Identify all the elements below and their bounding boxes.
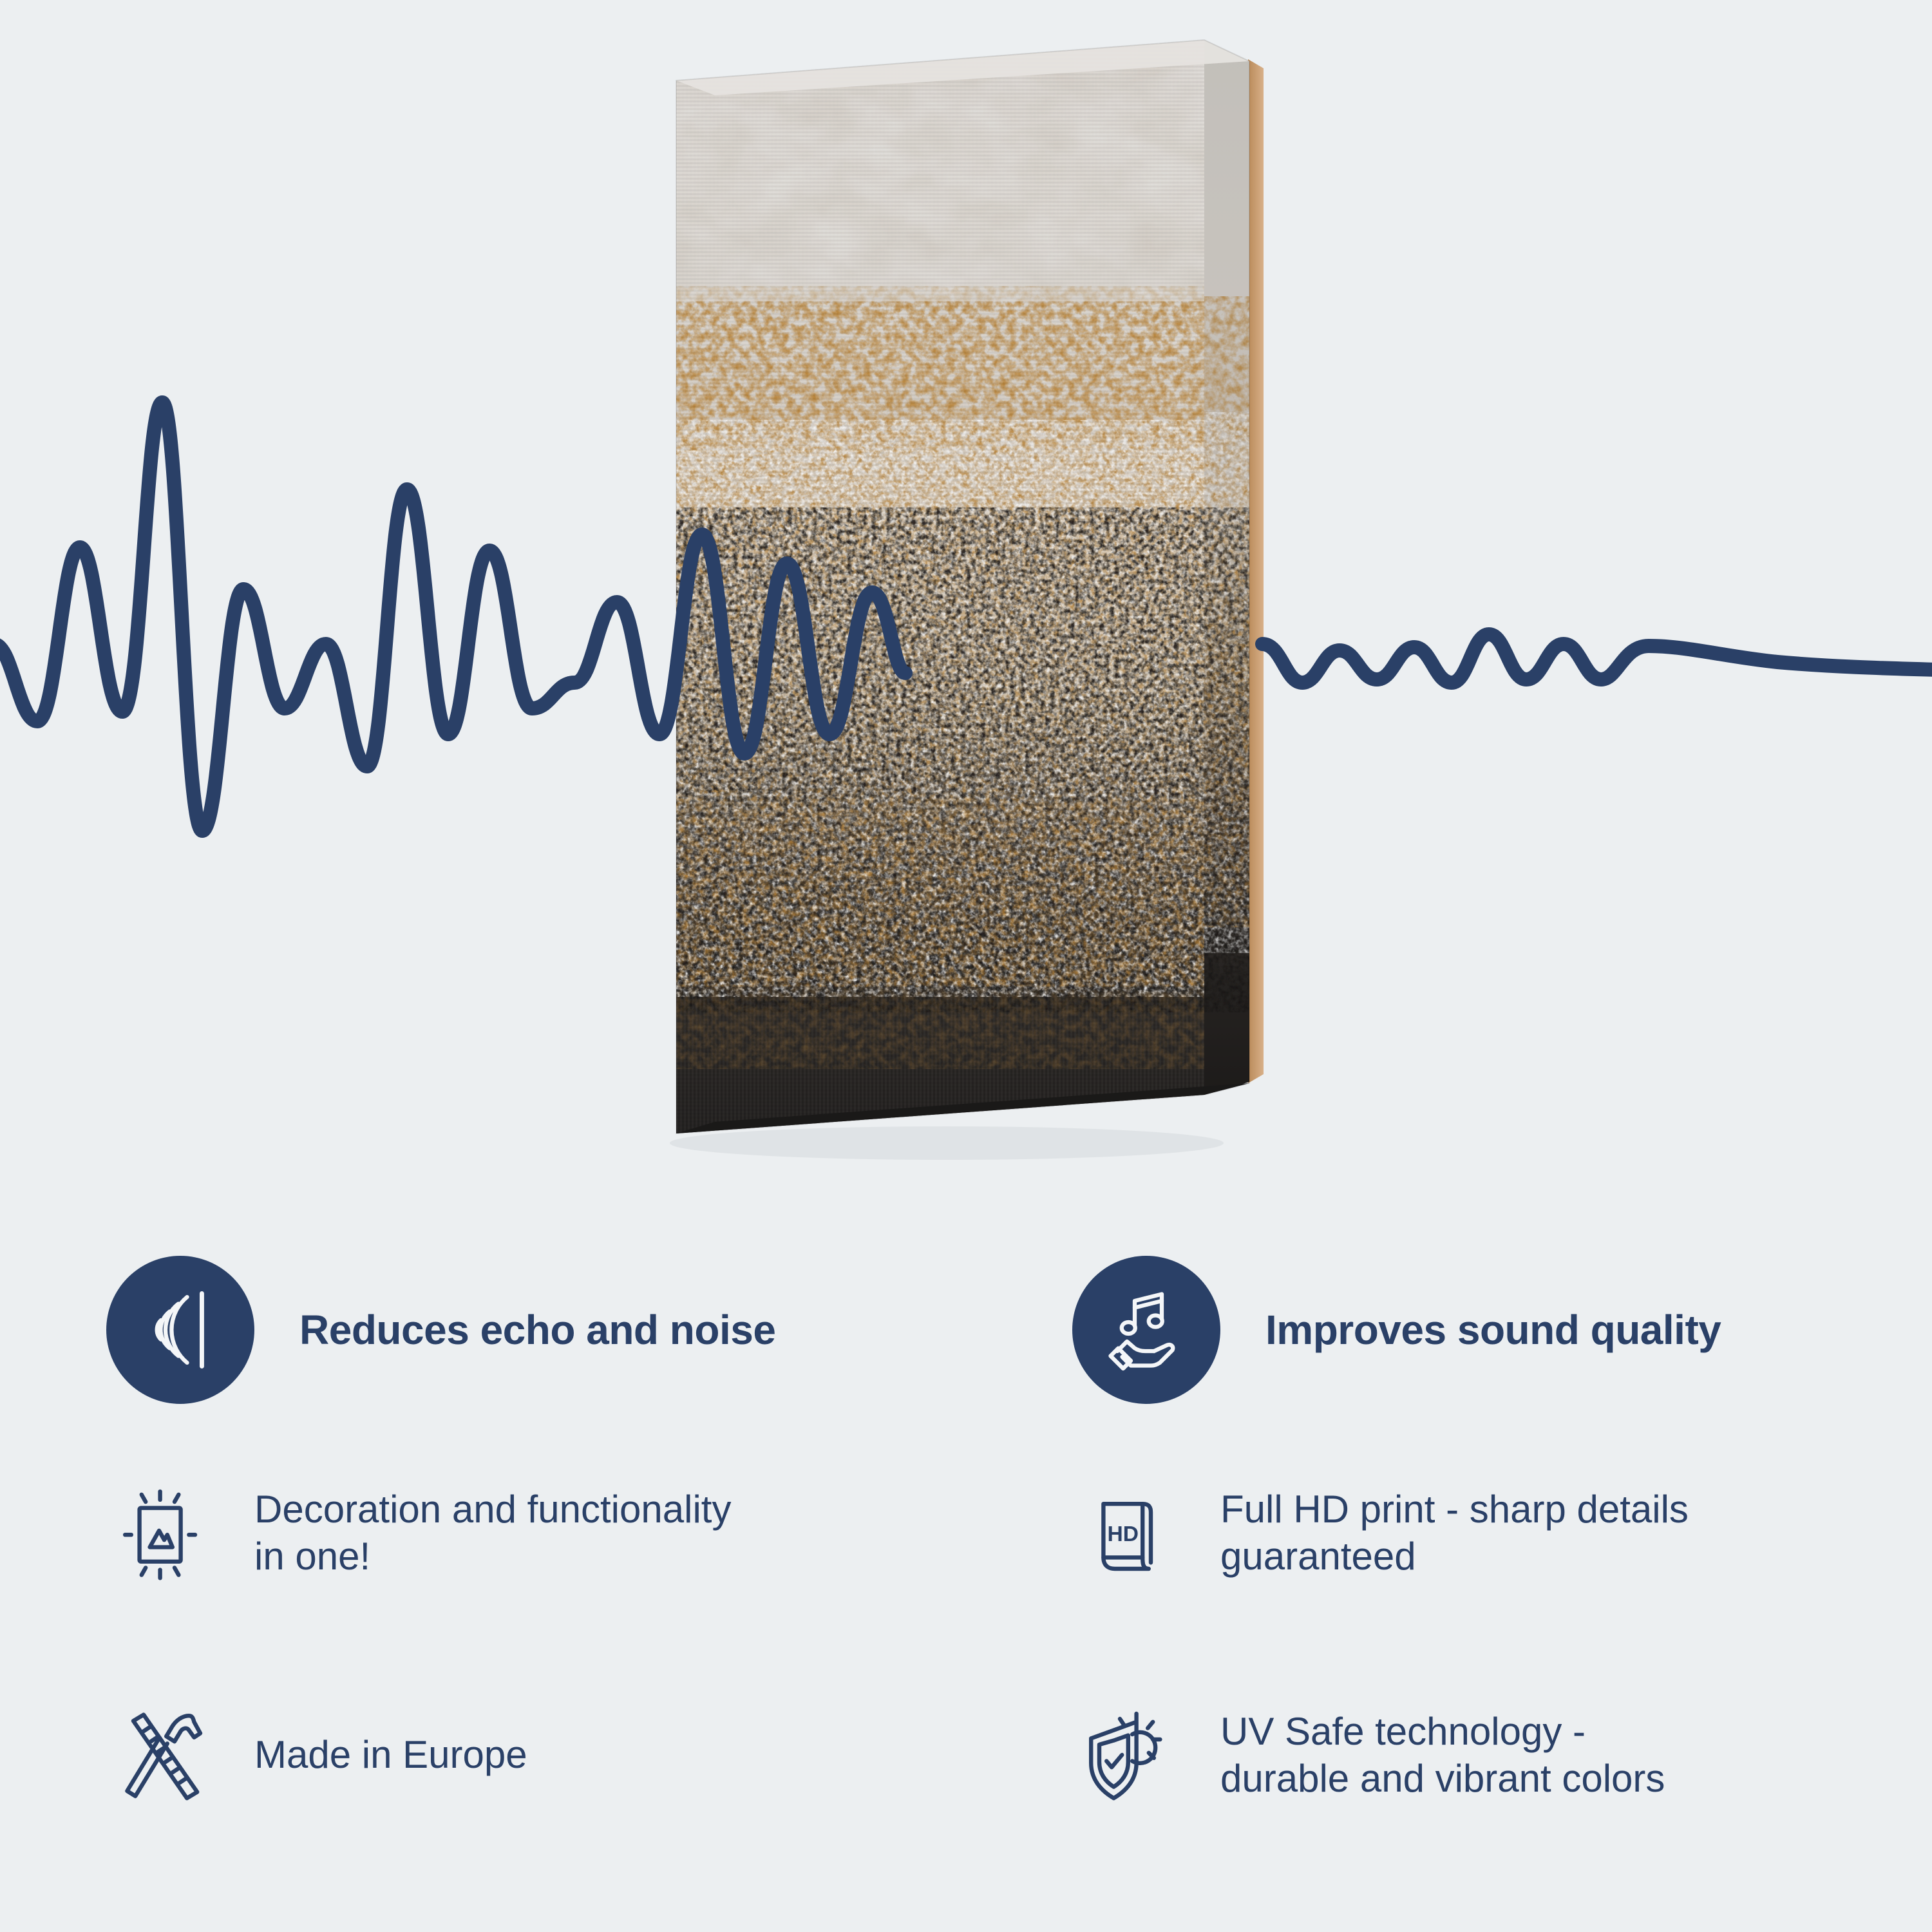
feature-row-line1: Full HD print - sharp details: [1220, 1486, 1689, 1533]
feature-row-line1: Decoration and functionality: [254, 1486, 731, 1533]
feature-badge-reduces-echo[interactable]: Reduces echo and noise: [106, 1256, 775, 1404]
uv-shield-sun-icon-wrap: [1072, 1697, 1188, 1813]
feature-row-line1: UV Safe technology -: [1220, 1708, 1665, 1755]
feature-row-label: Made in Europe: [254, 1731, 527, 1778]
feature-badge-label: Reduces echo and noise: [299, 1307, 775, 1352]
feature-row-line1: Made in Europe: [254, 1731, 527, 1778]
feature-row-line2: in one!: [254, 1533, 731, 1580]
sound-waves-wall-icon: [132, 1282, 229, 1378]
infographic-root: Reduces echo and noise: [0, 0, 1932, 1932]
wall-bar: [200, 1291, 204, 1368]
feature-list: Reduces echo and noise: [0, 1243, 1932, 1932]
waveform-right-segment: [1262, 634, 1932, 683]
feature-row-label: UV Safe technology - durable and vibrant…: [1220, 1708, 1665, 1802]
feature-badge-improves-sound[interactable]: Improves sound quality: [1072, 1256, 1721, 1404]
hero-area: [0, 0, 1932, 1243]
feature-row-made-in-europe[interactable]: Made in Europe: [106, 1687, 527, 1823]
music-note-hand-badge: [1072, 1256, 1220, 1404]
ruler-hammer-icon-wrap: [106, 1697, 222, 1813]
feature-row-label: Full HD print - sharp details guaranteed: [1220, 1486, 1689, 1580]
hd-print-icon: HD: [1079, 1481, 1182, 1584]
waveform-left-segment: [0, 402, 905, 831]
music-note-hand-icon: [1098, 1282, 1195, 1378]
uv-shield-sun-icon: [1079, 1703, 1182, 1806]
hd-print-icon-wrap: HD: [1072, 1475, 1188, 1591]
sound-waveform: [0, 0, 1932, 1243]
feature-badge-label: Improves sound quality: [1265, 1307, 1721, 1352]
feature-row-line2: guaranteed: [1220, 1533, 1689, 1580]
framed-picture-shine-icon-wrap: [106, 1475, 222, 1591]
ruler-hammer-icon: [113, 1703, 216, 1806]
feature-row-line2: durable and vibrant colors: [1220, 1755, 1665, 1802]
feature-row-hd-print[interactable]: HD Full HD print - sharp details guarant…: [1072, 1465, 1689, 1600]
feature-row-uv-safe[interactable]: UV Safe technology - durable and vibrant…: [1072, 1687, 1665, 1823]
feature-row-label: Decoration and functionality in one!: [254, 1486, 731, 1580]
framed-picture-shine-icon: [113, 1481, 216, 1584]
sound-waves-wall-badge: [106, 1256, 254, 1404]
hd-label: HD: [1108, 1522, 1139, 1546]
feature-row-decoration[interactable]: Decoration and functionality in one!: [106, 1465, 731, 1600]
